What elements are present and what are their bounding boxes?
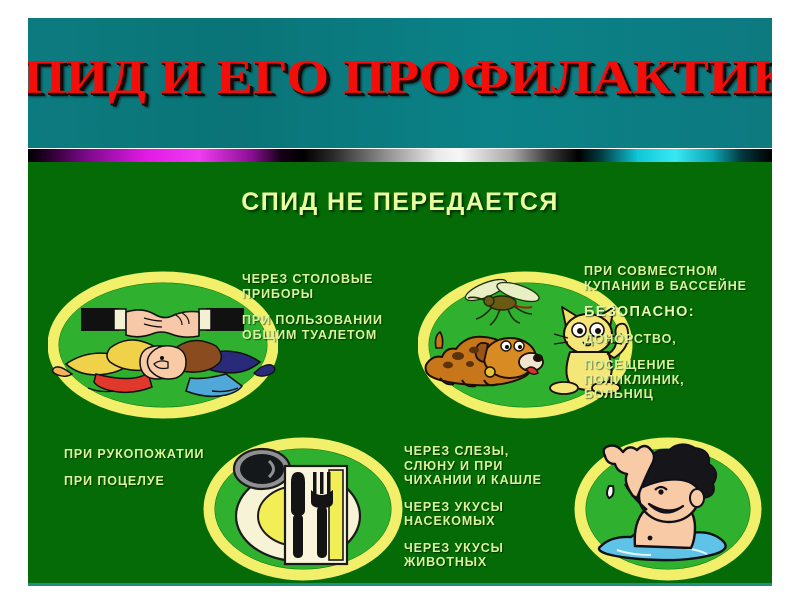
slide-header: СПИД И ЕГО ПРОФИЛАКТИКА [28,18,772,148]
pool-line-3: ДОНОРСТВО, [584,332,774,347]
section-subtitle: СПИД НЕ ПЕРЕДАЕТСЯ [28,188,772,217]
utensils-line-1: ЧЕРЕЗ СТОЛОВЫЕ [242,272,373,286]
slide: СПИД И ЕГО ПРОФИЛАКТИКА СПИД НЕ ПЕРЕДАЕТ… [28,18,772,588]
utensils-line-3: ПРИ ПОЛЬЗОВАНИИ [242,313,383,327]
utensils-line-4: ОБЩИМ ТУАЛЕТОМ [242,328,377,342]
pool-line-2: КУПАНИИ В БАССЕЙНЕ [584,279,747,293]
tears-line-6: ЧЕРЕЗ УКУСЫ [404,541,504,555]
tears-line-7: ЖИВОТНЫХ [404,555,487,569]
decorative-gradient-rule [28,149,772,162]
tears-line-3: ЧИХАНИИ И КАШЛЕ [404,473,542,487]
safe-heading: БЕЗОПАСНО: [584,305,774,320]
illustration-plate-cutlery [203,434,403,584]
plate-cutlery-svg [203,434,403,584]
pool-line-1: ПРИ СОВМЕСТНОМ [584,264,718,278]
text-block-tears: ЧЕРЕЗ СЛЕЗЫ, СЛЮНУ И ПРИ ЧИХАНИИ И КАШЛЕ… [404,444,584,570]
tears-line-5: НАСЕКОМЫХ [404,514,496,528]
text-block-utensils: ЧЕРЕЗ СТОЛОВЫЕ ПРИБОРЫ ПРИ ПОЛЬЗОВАНИИ О… [242,272,422,342]
page-title: СПИД И ЕГО ПРОФИЛАКТИКА [28,48,772,105]
tears-line-1: ЧЕРЕЗ СЛЕЗЫ, [404,444,509,458]
pool-line-4: ПОСЕЩЕНИЕ [584,358,676,372]
tears-line-4: ЧЕРЕЗ УКУСЫ [404,500,504,514]
slide-body: СПИД НЕ ПЕРЕДАЕТСЯ [28,162,772,586]
text-block-pool: ПРИ СОВМЕСТНОМ КУПАНИИ В БАССЕЙНЕ БЕЗОПА… [584,264,774,402]
tears-line-2: СЛЮНУ И ПРИ [404,459,503,473]
toilet-seat-icon [234,449,290,489]
boy-swimming-svg [573,434,763,584]
utensils-line-2: ПРИБОРЫ [242,287,314,301]
pool-line-5: ПОЛИКЛИНИК, [584,373,685,387]
pool-line-6: БОЛЬНИЦ [584,387,654,401]
illustration-boy-swimming [573,434,763,584]
